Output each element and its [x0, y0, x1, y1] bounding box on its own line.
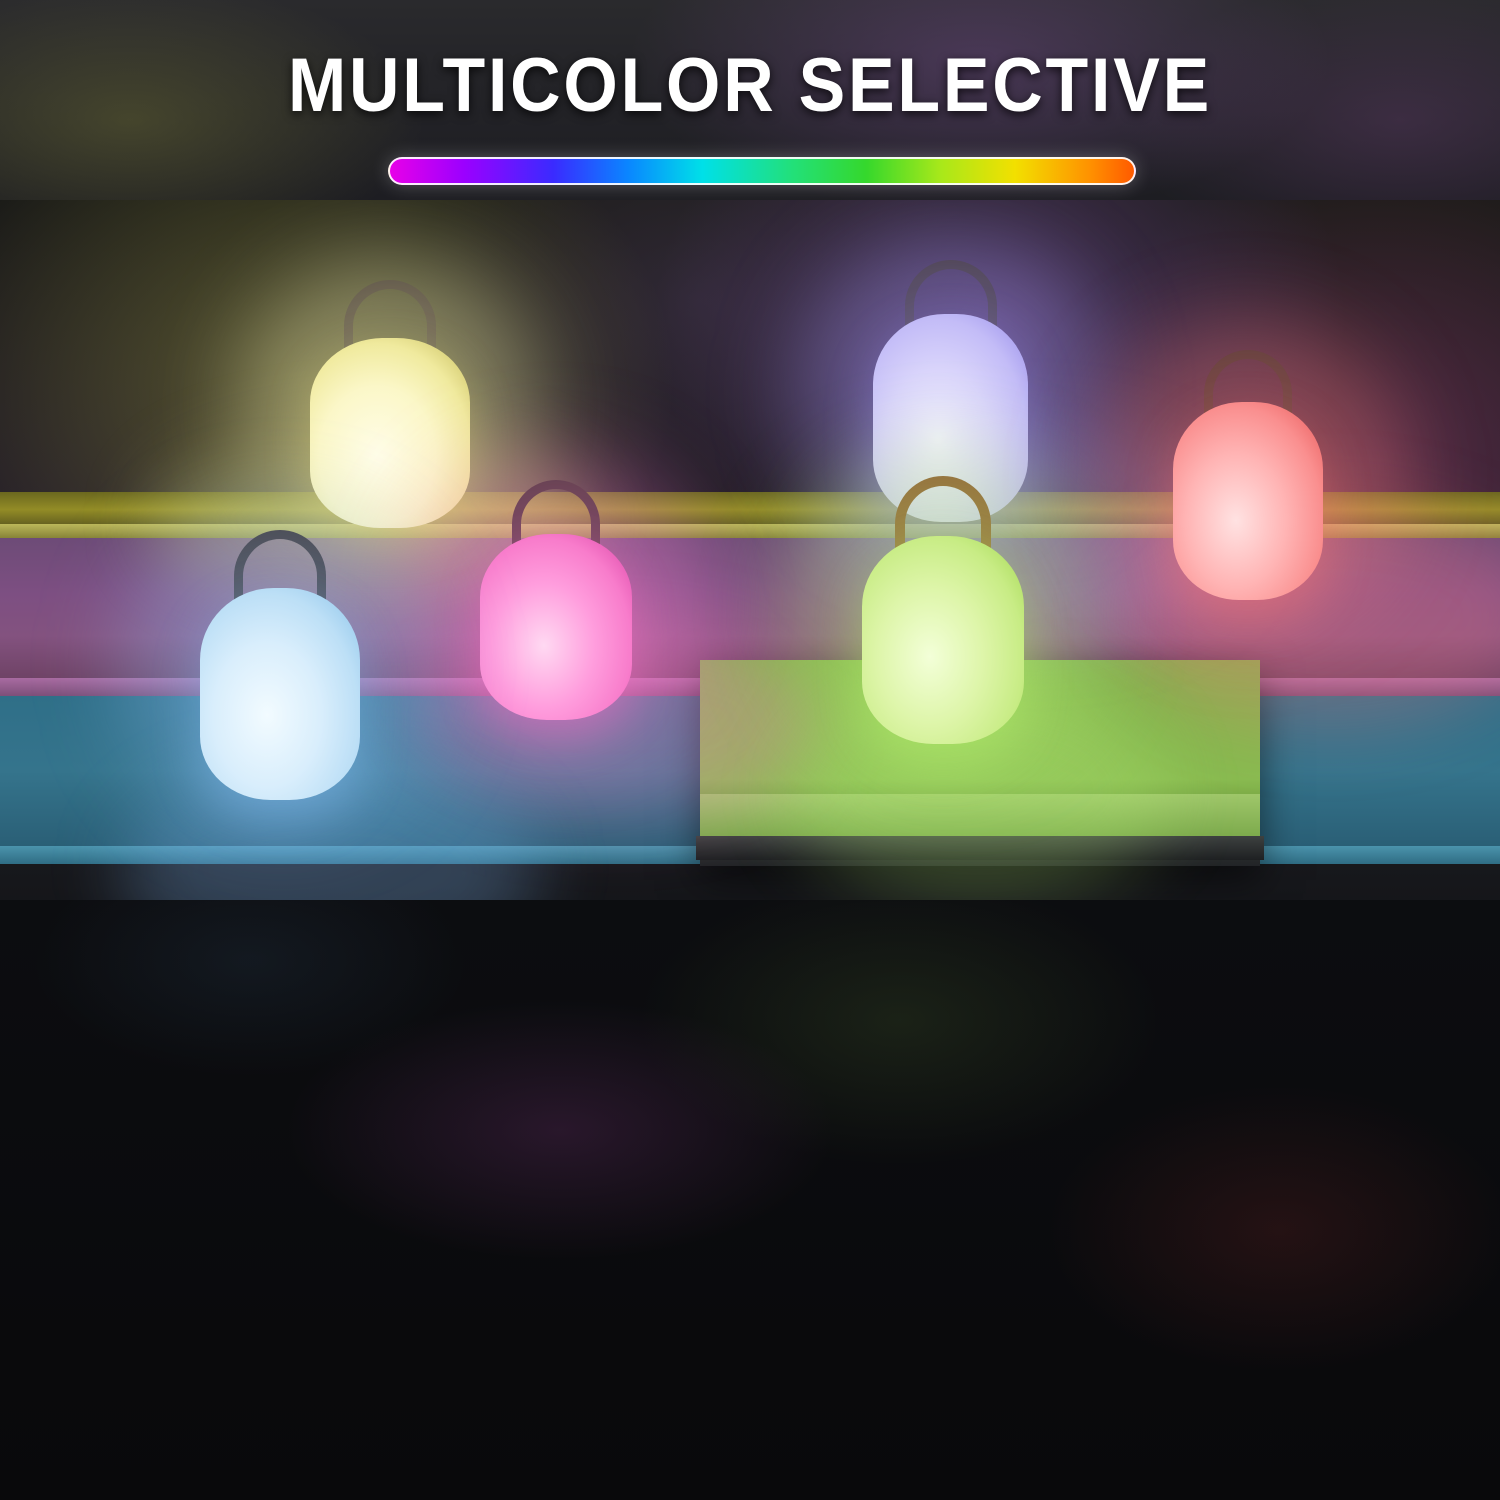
lamp-body [200, 588, 360, 800]
lamp-warm-white [310, 280, 470, 528]
lamp-body [310, 338, 470, 528]
lamp-body [1173, 402, 1323, 600]
lamp-body [480, 534, 632, 720]
lamp-body [862, 536, 1024, 744]
lamp-blue [200, 530, 360, 800]
hero-banner: MULTICOLOR SELECTIVE [0, 0, 1500, 200]
platform-green-top [700, 794, 1260, 840]
platform-green-edge [696, 836, 1264, 860]
lamp-green [862, 476, 1024, 744]
floor-dark [0, 864, 1500, 900]
lamp-pink [480, 480, 632, 720]
remote-control-section: REMOTE CONTROL ① ON - turns on the light… [0, 900, 1500, 1500]
rgb-spectrum-bar [388, 157, 1136, 185]
product-photo-scene [0, 200, 1500, 900]
product-infographic: MULTICOLOR SELECTIVE [0, 0, 1500, 1500]
lamp-red [1173, 350, 1323, 600]
page-title: MULTICOLOR SELECTIVE [60, 42, 1440, 129]
